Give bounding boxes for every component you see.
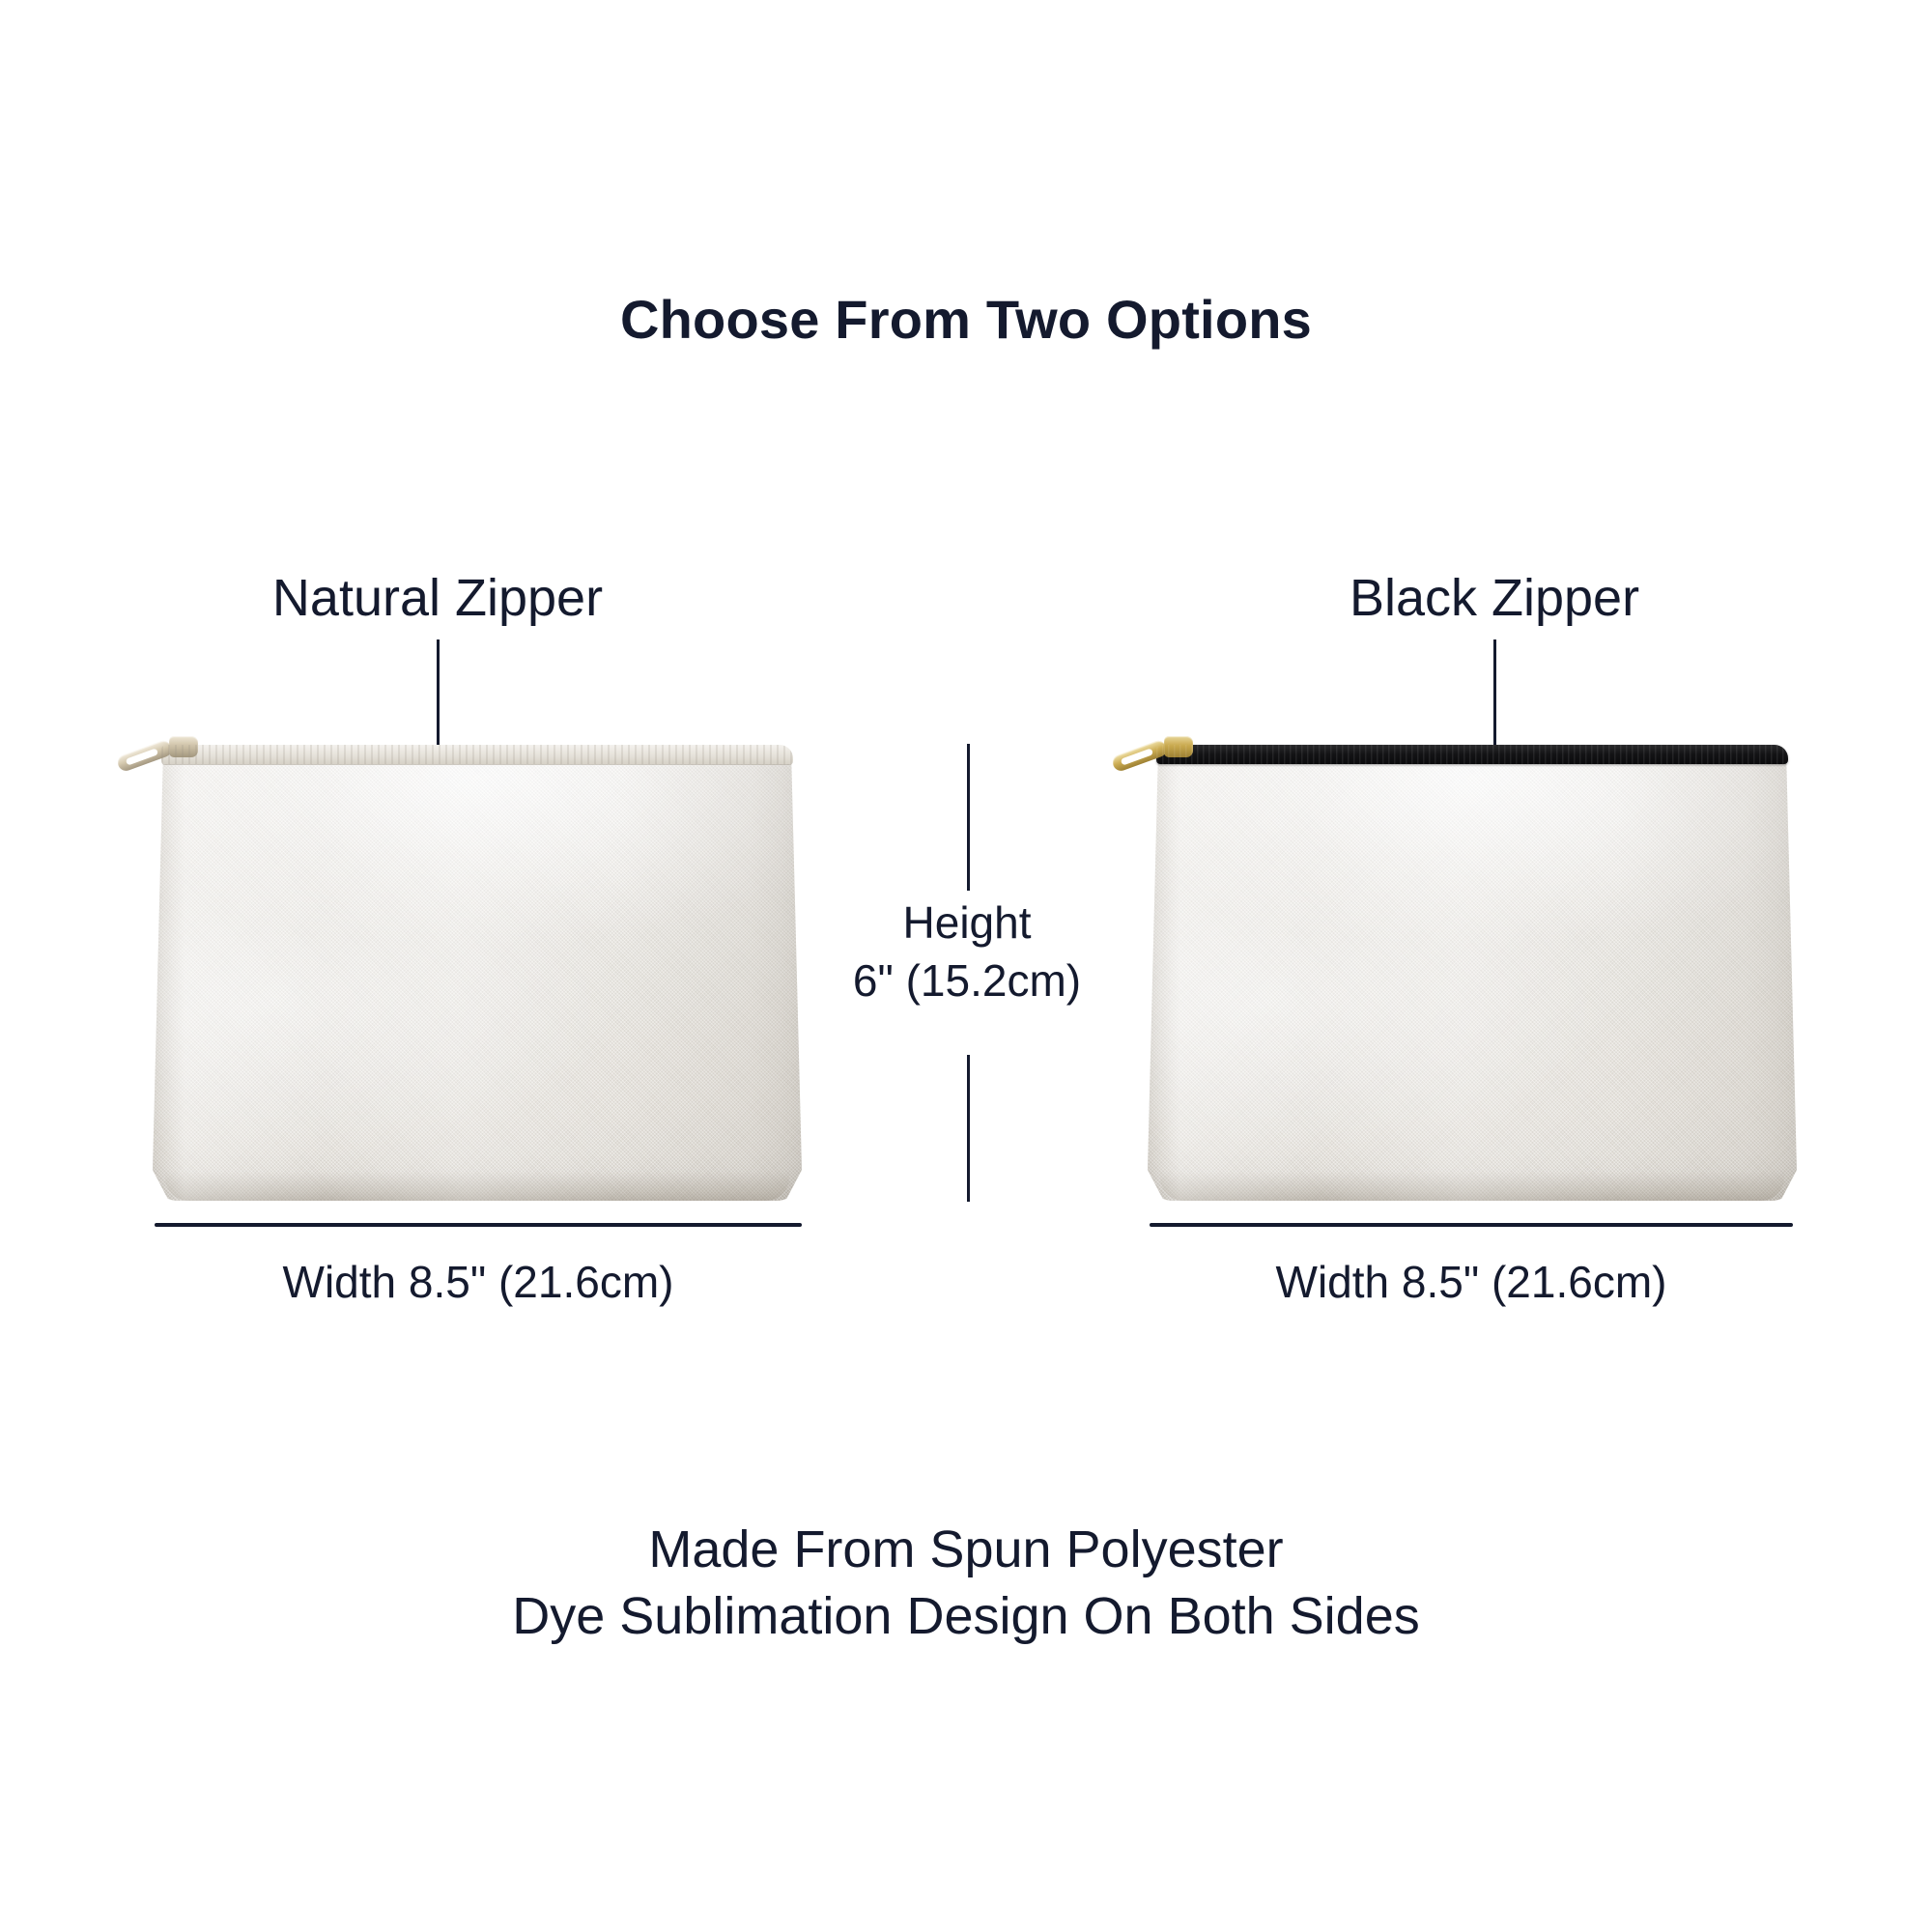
option-label-black-zipper: Black Zipper	[1195, 570, 1794, 627]
height-label: Height 6" (15.2cm)	[774, 895, 1160, 1010]
height-rule-upper	[967, 744, 970, 891]
leader-line-natural-zipper	[437, 639, 440, 753]
leader-line-black-zipper	[1493, 639, 1496, 746]
height-label-title: Height	[903, 897, 1032, 948]
zipper-tape-natural	[161, 745, 792, 764]
width-label-natural: Width 8.5" (21.6cm)	[111, 1256, 845, 1308]
width-rule-natural	[155, 1223, 802, 1227]
pouch-bottom-seam	[165, 1172, 788, 1201]
footer-line-1: Made From Spun Polyester	[0, 1517, 1932, 1583]
zipper-tape-black	[1156, 745, 1787, 764]
footer-line-2: Dye Sublimation Design On Both Sides	[0, 1583, 1932, 1650]
width-label-black: Width 8.5" (21.6cm)	[1104, 1256, 1838, 1308]
pouch-natural-zipper	[153, 739, 802, 1201]
footer-text: Made From Spun Polyester Dye Sublimation…	[0, 1517, 1932, 1650]
option-label-natural-zipper: Natural Zipper	[138, 570, 737, 627]
zipper-slider	[169, 736, 198, 757]
zipper-pull-icon	[115, 729, 198, 762]
height-rule-lower	[967, 1055, 970, 1202]
page-title: Choose From Two Options	[0, 290, 1932, 350]
pouch-black-zipper	[1148, 739, 1797, 1201]
pouch-body	[1148, 760, 1797, 1201]
pouch-body	[153, 760, 802, 1201]
zipper-pull-icon	[1110, 729, 1193, 762]
height-label-value: 6" (15.2cm)	[853, 955, 1081, 1006]
width-rule-black	[1150, 1223, 1793, 1227]
infographic-canvas: Choose From Two Options Natural Zipper W…	[0, 0, 1932, 1932]
zipper-slider	[1164, 736, 1193, 757]
pouch-bottom-seam	[1160, 1172, 1783, 1201]
